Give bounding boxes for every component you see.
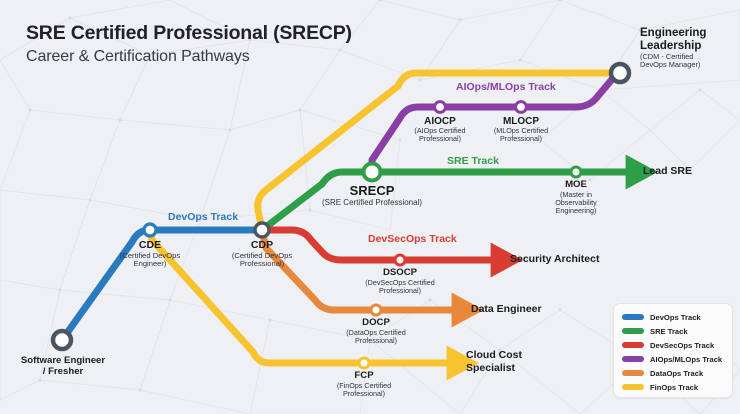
station-node-cdp [255,223,269,237]
page-title: SRE Certified Professional (SRECP) [26,22,352,45]
station-label-dsocp: DSOCP (DevSecOps Certified Professional) [344,268,456,295]
career-pathway-diagram: SRE Certified Professional (SRECP) Caree… [0,0,740,414]
station-cdp-sub: (Certified DevOps Professional) [212,252,312,269]
legend-label-devops: DevOps Track [650,313,701,322]
station-moe-sub: (Master in Observability Engineering) [533,191,619,215]
station-node-mlocp [516,102,527,113]
station-node-docp [371,305,381,315]
station-label-cdp: CDP (Certified DevOps Professional) [212,240,312,269]
endpoint-leadership-line1: Engineering [640,27,740,40]
legend-label-devsecops: DevSecOps Track [650,341,714,350]
track-label-devsecops: DevSecOps Track [368,233,457,245]
endpoint-data-engineer: Data Engineer [471,303,542,315]
station-node-moe [571,167,581,177]
station-cdp-code: CDP [212,240,312,252]
station-cde-code: CDE [100,240,200,252]
legend-swatch-devops [622,314,644,320]
station-node-aiocp [435,102,446,113]
station-node-start [53,331,71,349]
legend-label-dataops: DataOps Track [650,369,703,378]
station-label-cde: CDE (Certified DevOps Engineer) [100,240,200,269]
legend-item-devops: DevOps Track [622,310,732,324]
station-docp-sub: (DataOps Certified Professional) [324,329,428,345]
station-node-leadership [611,64,629,82]
station-node-cde [144,224,156,236]
station-srecp-code: SRECP [292,184,452,199]
endpoint-security-architect: Security Architect [510,253,599,265]
legend-item-finops: FinOps Track [622,380,732,394]
station-label-fcp: FCP (FinOps Certified Professional) [312,371,416,398]
title-block: SRE Certified Professional (SRECP) Caree… [26,22,352,66]
endpoint-leadership-line2: Leadership [640,40,740,53]
legend-item-sre: SRE Track [622,324,732,338]
station-label-moe: MOE (Master in Observability Engineering… [533,180,619,215]
station-node-dsocp [395,255,405,265]
endpoint-lead-sre: Lead SRE [643,165,692,177]
station-label-start: Software Engineer / Fresher [2,356,124,377]
track-label-sre: SRE Track [447,155,499,167]
legend-item-devsecops: DevSecOps Track [622,338,732,352]
endpoint-leadership-sub: (CDM - Certified DevOps Manager) [640,53,740,69]
endpoint-leadership: Engineering Leadership (CDM - Certified … [640,27,740,70]
legend-swatch-devsecops [622,342,644,348]
track-label-devops: DevOps Track [168,211,238,223]
legend-swatch-aiops [622,356,644,362]
legend-swatch-dataops [622,370,644,376]
station-node-fcp [359,358,369,368]
station-cde-sub: (Certified DevOps Engineer) [100,252,200,269]
legend: DevOps Track SRE Track DevSecOps Track A… [613,303,733,398]
station-srecp-sub: (SRE Certified Professional) [292,199,452,208]
endpoint-cloud-cost-line1: Cloud Cost [466,349,522,362]
legend-label-finops: FinOps Track [650,383,698,392]
legend-swatch-finops [622,384,644,390]
track-label-aiops: AIOps/MLOps Track [456,81,556,93]
legend-label-aiops: AIOps/MLOps Track [650,355,722,364]
page-subtitle: Career & Certification Pathways [26,48,352,66]
station-dsocp-sub: (DevSecOps Certified Professional) [344,279,456,295]
legend-label-sre: SRE Track [650,327,688,336]
station-fcp-sub: (FinOps Certified Professional) [312,382,416,398]
legend-item-dataops: DataOps Track [622,366,732,380]
legend-swatch-sre [622,328,644,334]
station-label-mlocp: MLOCP (MLOps Certified Professional) [472,116,570,143]
station-start-sub: / Fresher [2,367,124,378]
station-node-srecp [364,164,381,181]
station-mlocp-sub: (MLOps Certified Professional) [472,127,570,143]
endpoint-cloud-cost-specialist: Cloud Cost Specialist [466,349,522,375]
station-label-docp: DOCP (DataOps Certified Professional) [324,318,428,345]
station-label-srecp: SRECP (SRE Certified Professional) [292,184,452,208]
endpoint-cloud-cost-line2: Specialist [466,362,522,375]
legend-item-aiops: AIOps/MLOps Track [622,352,732,366]
